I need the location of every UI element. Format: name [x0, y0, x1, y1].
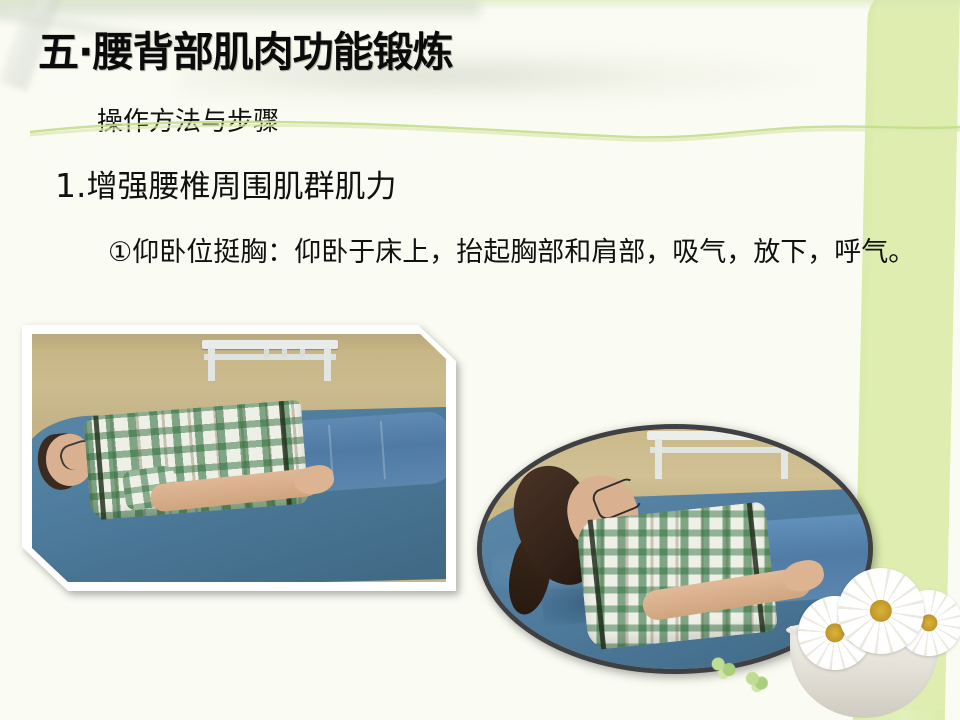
slide-title: 五·腰背部肌肉功能锻炼: [38, 18, 453, 78]
bench-slat: [300, 349, 305, 357]
shirt-seam: [588, 520, 607, 650]
bench-rail: [204, 354, 336, 360]
bench-leg: [781, 439, 788, 479]
chest-lift-photo: [477, 424, 873, 674]
bench-top: [202, 340, 338, 349]
slide-canvas: 五·腰背部肌肉功能锻炼 操作方法与步骤 1.增强腰椎周围肌群肌力 ①仰卧位挺胸：…: [0, 0, 960, 720]
shirt-seam: [747, 503, 766, 633]
shirt-seam: [93, 416, 106, 520]
jeans-fold: [380, 421, 386, 479]
background-bench: [647, 429, 797, 481]
slide-subtitle: 操作方法与步骤: [97, 101, 279, 138]
heading-label: 增强腰椎周围肌群肌力: [87, 169, 397, 205]
section-heading: 1.增强腰椎周围肌群肌力: [55, 161, 397, 206]
heading-number: 1.: [55, 166, 87, 205]
bench-leg: [655, 439, 662, 479]
step-detail-text: ①仰卧位挺胸：仰卧于床上，抬起胸部和肩部，吸气，放下，呼气。: [108, 234, 953, 273]
green-side-band-inner: [861, 0, 960, 710]
bench-rail: [650, 447, 794, 453]
supine-rest-photo: [22, 325, 456, 591]
background-bench: [202, 340, 338, 382]
bench-slat: [282, 349, 287, 357]
bench-leg: [324, 348, 331, 381]
photo-image-supine: [32, 334, 446, 582]
photo-frame-oval: [477, 424, 873, 674]
bench-slat: [264, 349, 269, 357]
bench-top: [647, 431, 797, 440]
bench-leg: [208, 348, 215, 381]
